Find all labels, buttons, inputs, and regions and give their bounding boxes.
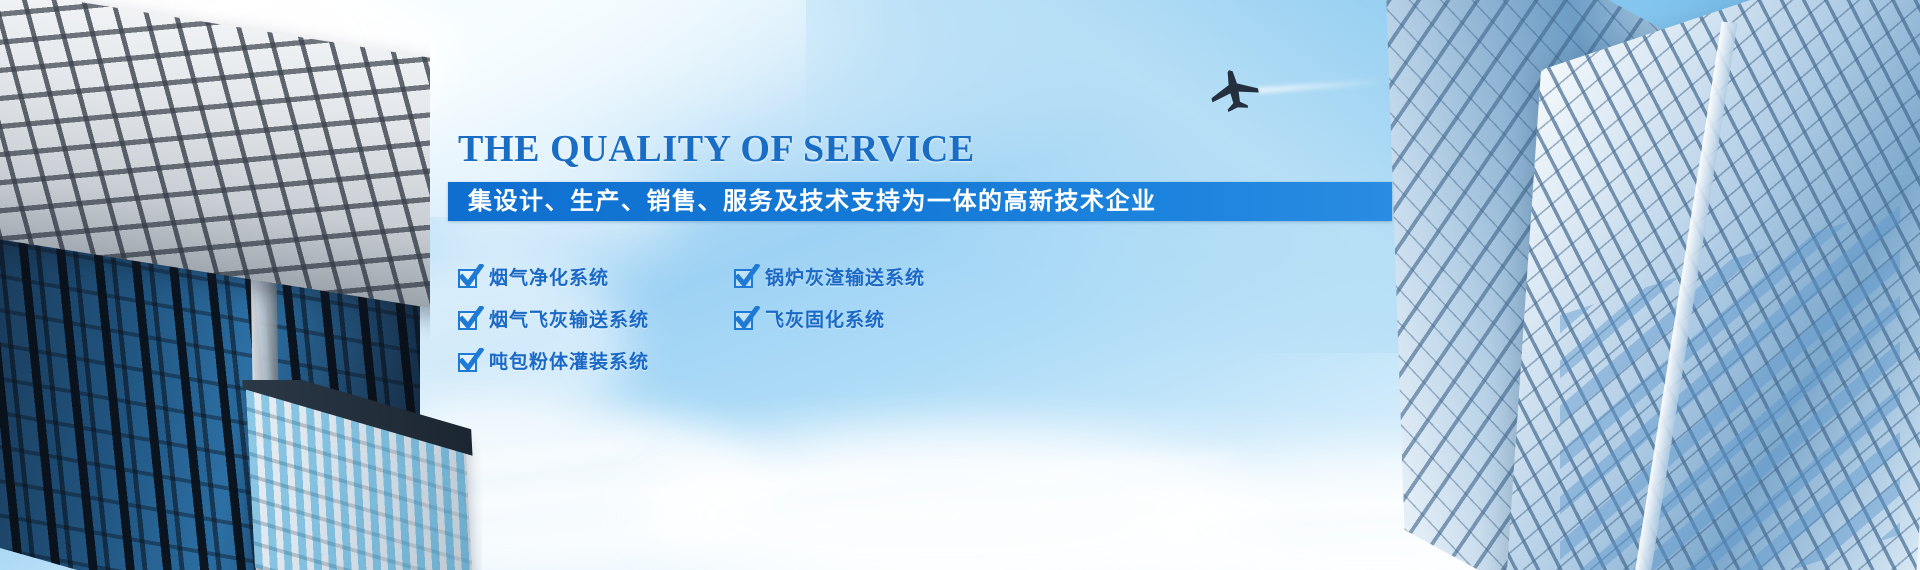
tagline-text: 集设计、生产、销售、服务及技术支持为一体的高新技术企业 [448, 190, 1157, 214]
checkbox-checked-icon [458, 269, 477, 288]
feature-label: 锅炉灰渣输送系统 [765, 269, 925, 288]
tagline-ribbon: 集设计、生产、销售、服务及技术支持为一体的高新技术企业 [448, 182, 1392, 221]
feature-label: 烟气飞灰输送系统 [489, 311, 649, 330]
banner-content: THE QUALITY OF SERVICE 集设计、生产、销售、服务及技术支持… [458, 130, 1458, 383]
feature-label: 飞灰固化系统 [765, 311, 885, 330]
feature-item-boiler-ash-conveying[interactable]: 锅炉灰渣输送系统 [734, 257, 1458, 299]
checkbox-checked-icon [458, 311, 477, 330]
feature-label: 吨包粉体灌装系统 [489, 353, 649, 372]
mid-rise-building [232, 380, 482, 570]
checkbox-checked-icon [734, 311, 753, 330]
feature-item-flyash-solidification[interactable]: 飞灰固化系统 [734, 299, 1458, 341]
headline-english: THE QUALITY OF SERVICE [458, 130, 1458, 168]
checkbox-checked-icon [458, 353, 477, 372]
feature-list: 烟气净化系统 锅炉灰渣输送系统 烟气飞灰输送系统 飞灰固化系统 [458, 257, 1458, 383]
feature-item-flyash-conveying[interactable]: 烟气飞灰输送系统 [458, 299, 734, 341]
feature-item-smoke-purification[interactable]: 烟气净化系统 [458, 257, 734, 299]
checkbox-checked-icon [734, 269, 753, 288]
feature-label: 烟气净化系统 [489, 269, 609, 288]
feature-item-bulk-bag-powder-filling[interactable]: 吨包粉体灌装系统 [458, 341, 734, 383]
hero-banner: THE QUALITY OF SERVICE 集设计、生产、销售、服务及技术支持… [0, 0, 1920, 570]
